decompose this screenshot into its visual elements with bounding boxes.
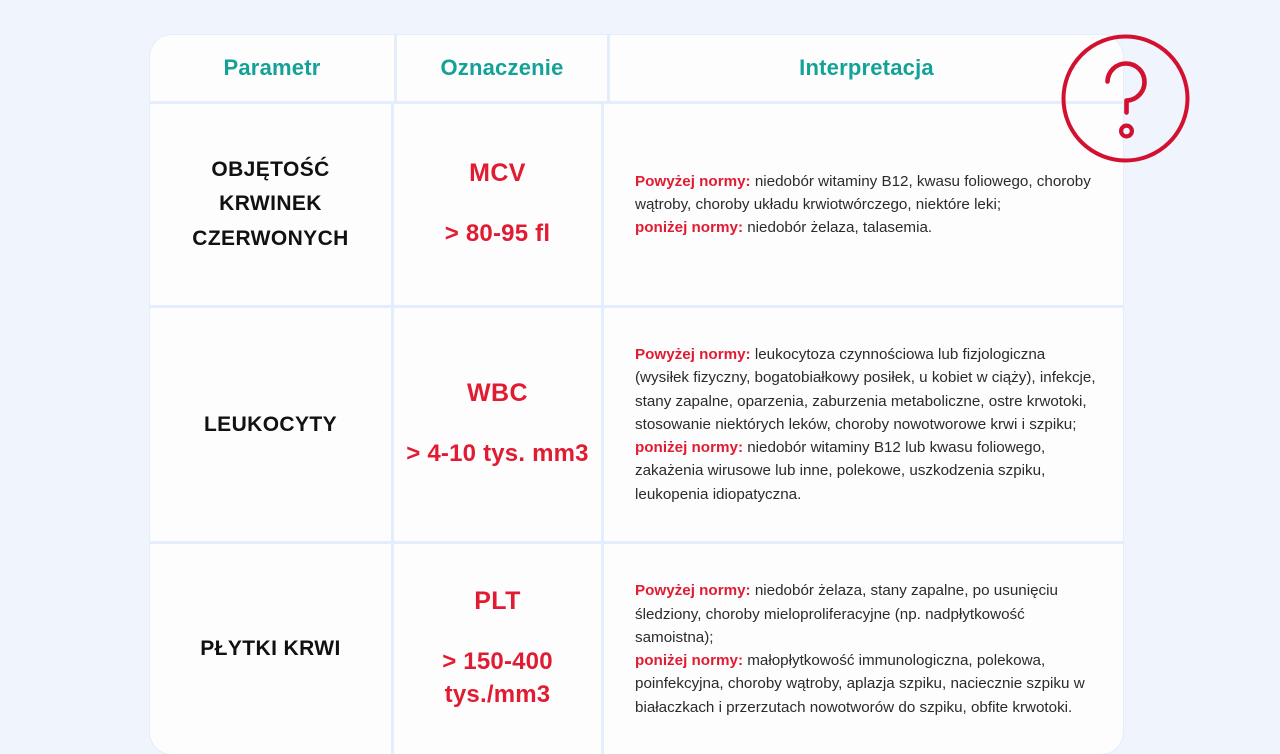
cell-marking: MCV > 80-95 fl — [394, 104, 604, 305]
marking-code: WBC — [467, 379, 528, 408]
marking-code: PLT — [474, 587, 521, 616]
above-norm-label: Powyżej normy: — [635, 346, 751, 363]
above-norm-label: Powyżej normy: — [635, 582, 751, 599]
cell-interpretation: Powyżej normy: niedobór witaminy B12, kw… — [604, 104, 1123, 305]
parameter-name: OBJĘTOŚĆ KRWINEK CZERWONYCH — [164, 153, 377, 255]
column-header-interpretacja: Interpretacja — [610, 35, 1123, 101]
infographic-page: Parametr Oznaczenie Interpretacja OBJĘTO… — [0, 0, 1280, 723]
table-row: OBJĘTOŚĆ KRWINEK CZERWONYCH MCV > 80-95 … — [150, 104, 1123, 308]
below-norm-label: poniżej normy: — [635, 652, 743, 669]
marking-range: > 150-400 tys./mm3 — [404, 646, 591, 711]
below-norm-text: niedobór żelaza, talasemia. — [743, 219, 932, 236]
parameter-name: PŁYTKI KRWI — [200, 632, 341, 666]
marking-code: MCV — [469, 159, 526, 188]
below-norm-label: poniżej normy: — [635, 219, 743, 236]
parameter-name: LEUKOCYTY — [204, 408, 337, 442]
table-row: LEUKOCYTY WBC > 4-10 tys. mm3 Powyżej no… — [150, 308, 1123, 544]
column-header-oznaczenie: Oznaczenie — [397, 35, 610, 101]
cell-interpretation: Powyżej normy: leukocytoza czynnościowa … — [604, 308, 1123, 541]
interpretation-text: Powyżej normy: leukocytoza czynnościowa … — [635, 343, 1103, 506]
interpretation-text: Powyżej normy: niedobór żelaza, stany za… — [635, 579, 1103, 719]
interpretation-text: Powyżej normy: niedobór witaminy B12, kw… — [635, 170, 1103, 240]
blood-test-parameters-table: Parametr Oznaczenie Interpretacja OBJĘTO… — [150, 35, 1123, 754]
marking-range: > 80-95 fl — [445, 218, 550, 250]
cell-parameter: LEUKOCYTY — [150, 308, 394, 541]
question-mark-icon — [1060, 33, 1191, 164]
column-header-parametr: Parametr — [150, 35, 397, 101]
table-header-row: Parametr Oznaczenie Interpretacja — [150, 35, 1123, 104]
marking-range: > 4-10 tys. mm3 — [406, 438, 588, 470]
below-norm-label: poniżej normy: — [635, 439, 743, 456]
cell-marking: WBC > 4-10 tys. mm3 — [394, 308, 604, 541]
cell-parameter: OBJĘTOŚĆ KRWINEK CZERWONYCH — [150, 104, 394, 305]
above-norm-label: Powyżej normy: — [635, 173, 751, 190]
